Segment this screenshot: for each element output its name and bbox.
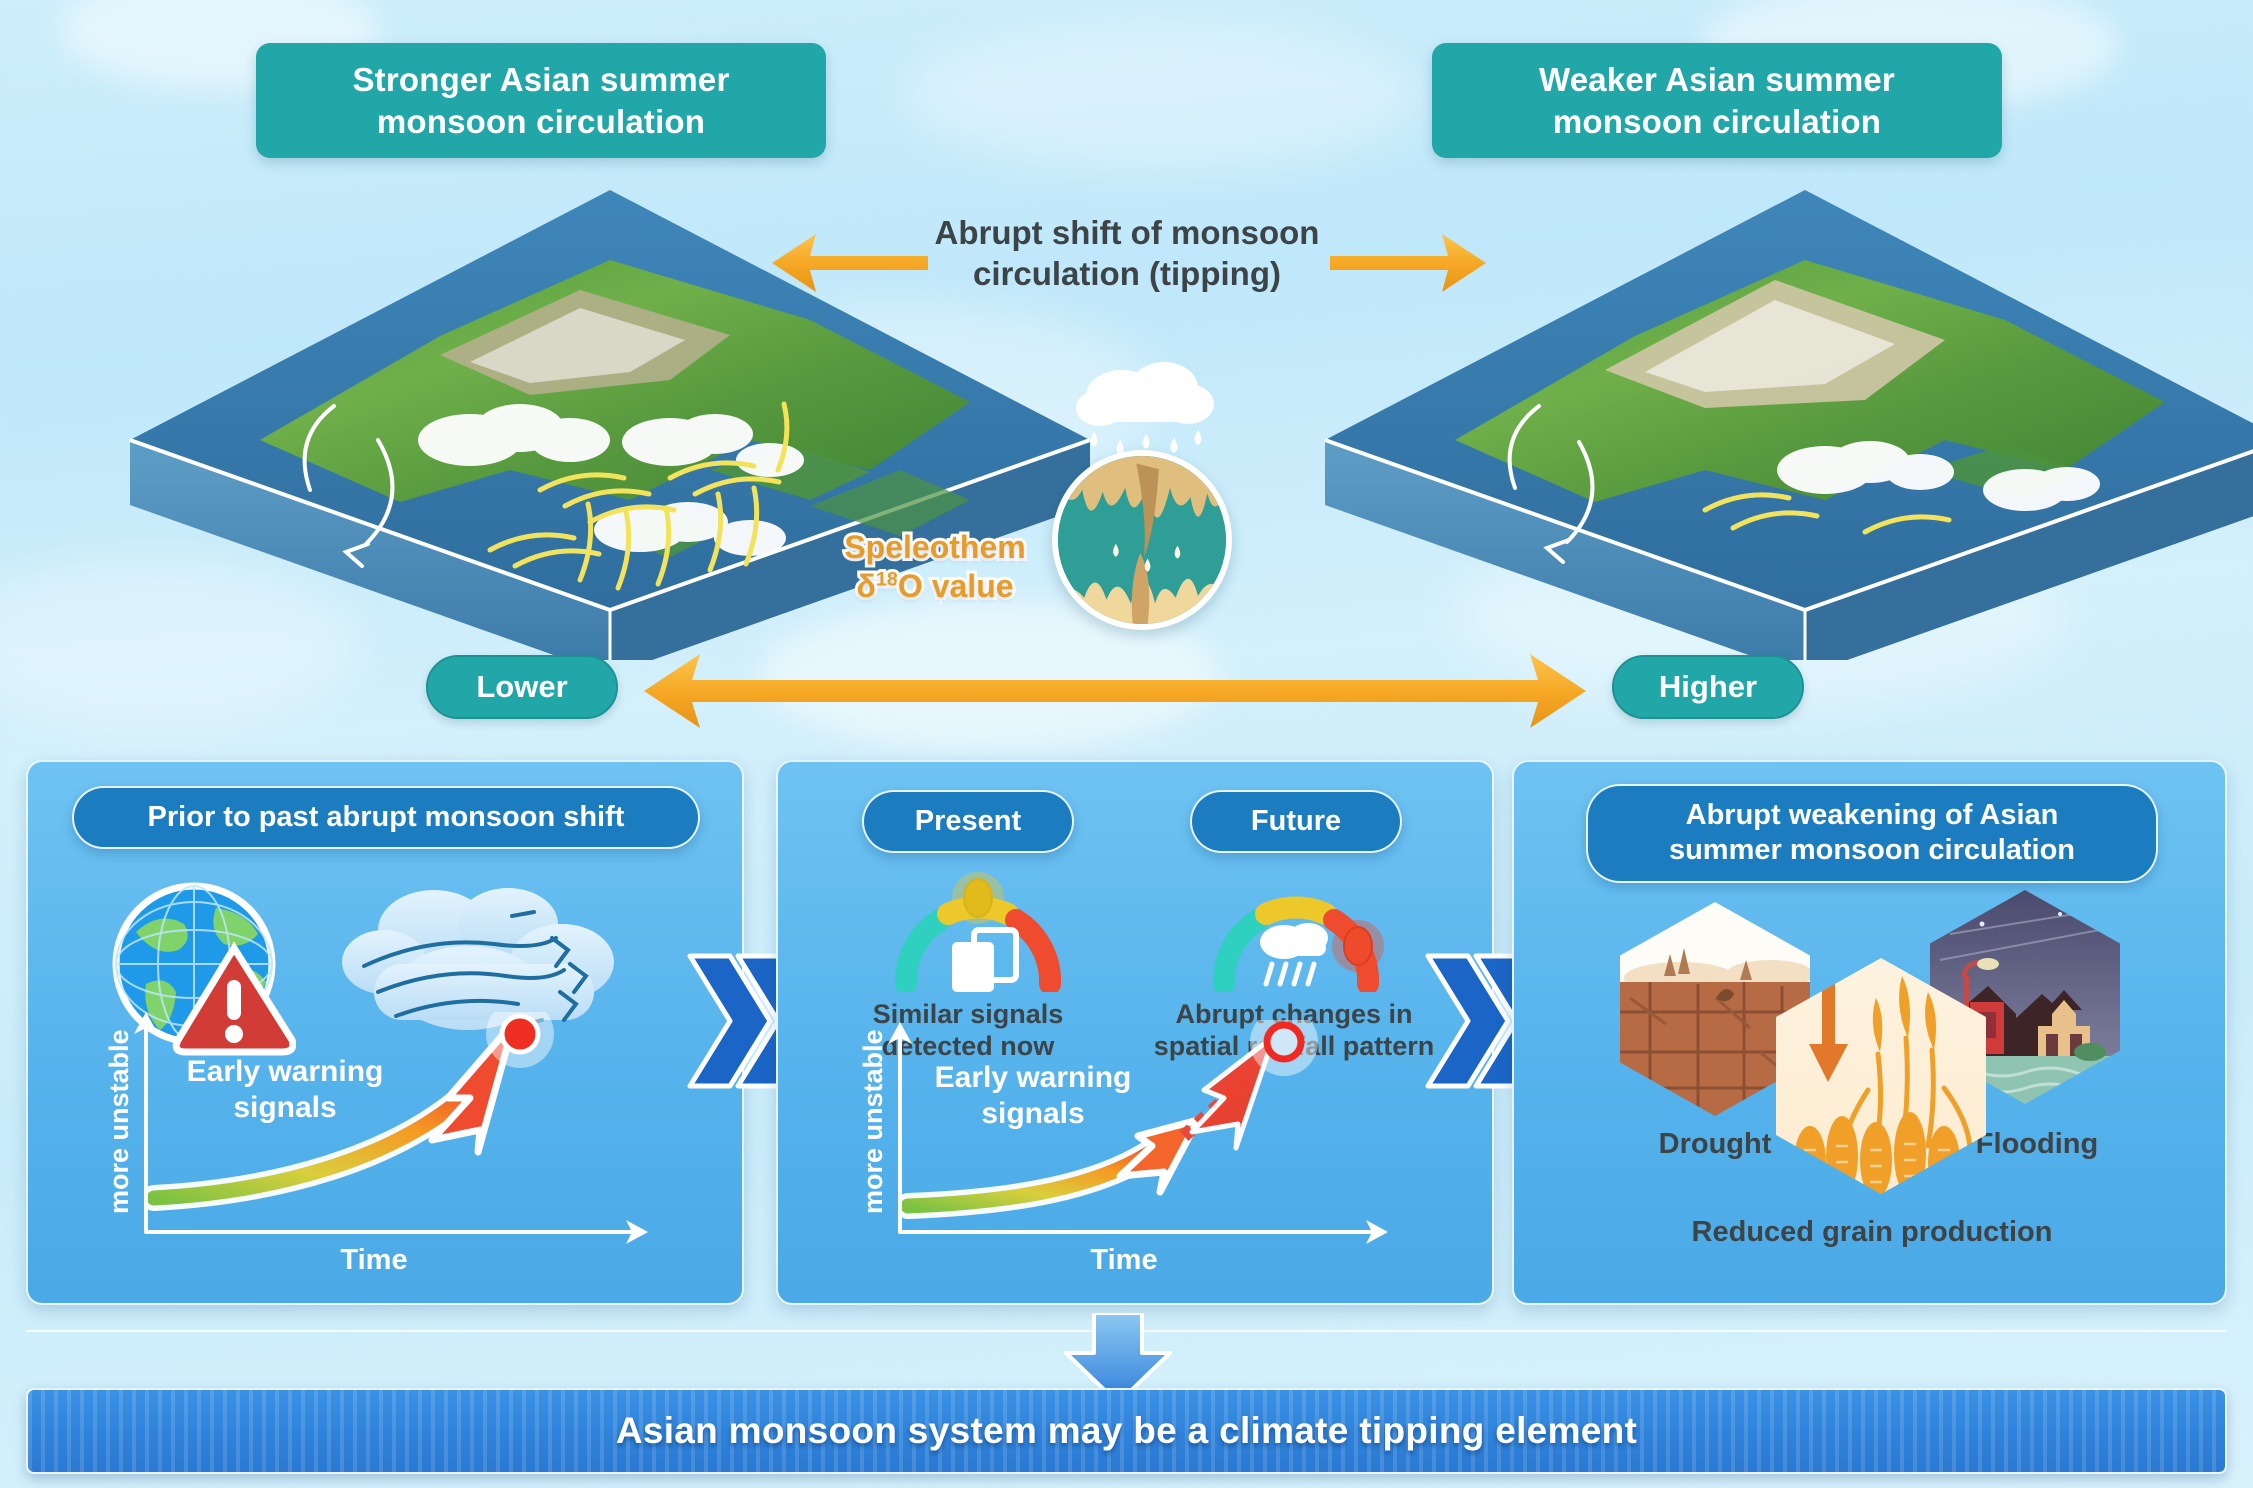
- rising-orange-arrow-icon: [902, 1020, 1372, 1240]
- panel-impacts-header: Abrupt weakening of Asian summer monsoon…: [1586, 784, 2158, 883]
- hollow-red-dot-marker: [1267, 1025, 1301, 1059]
- gauge-yellow-icon: [890, 868, 1066, 992]
- tipping-label-line1: Abrupt shift of monsoon: [935, 214, 1320, 251]
- panel-impacts: Abrupt weakening of Asian summer monsoon…: [1512, 760, 2227, 1305]
- state-label-line1: Weaker Asian summer: [1539, 61, 1895, 98]
- gauge-red-icon: [1208, 868, 1384, 992]
- proxy-lower-label: Lower: [476, 669, 567, 704]
- speleothem-proxy-label: Speleothem δ18O value: [820, 528, 1050, 606]
- x-axis-arrowhead-icon: [620, 1218, 648, 1246]
- conclusion-banner: Asian monsoon system may be a climate ti…: [26, 1388, 2227, 1474]
- panel-prior-to-shift: Prior to past abrupt monsoon shift: [26, 760, 744, 1305]
- panel-impacts-header-line1: Abrupt weakening of Asian: [1686, 799, 2059, 831]
- state-label-line2: monsoon circulation: [377, 103, 705, 140]
- proxy-value-higher-badge: Higher: [1612, 655, 1804, 719]
- proxy-value-lower-badge: Lower: [426, 655, 618, 719]
- chart-y-label: more unstable: [858, 1029, 889, 1214]
- impact-label-grain: Reduced grain production: [1652, 1216, 2092, 1249]
- panel-prior-header: Prior to past abrupt monsoon shift: [72, 786, 700, 849]
- chart-x-label: Time: [1024, 1244, 1224, 1277]
- badge-future: Future: [1190, 790, 1402, 853]
- tipping-label-line2: circulation (tipping): [973, 255, 1281, 292]
- panel-present-future: Present Future Similar signals detected …: [776, 760, 1494, 1305]
- state-label-line2: monsoon circulation: [1553, 103, 1881, 140]
- chart-x-label: Time: [274, 1244, 474, 1277]
- proxy-higher-label: Higher: [1659, 669, 1757, 704]
- copy-signals-icon: [952, 930, 1016, 992]
- chart-y-label: more unstable: [104, 1029, 135, 1214]
- arrow-right-icon: [1328, 228, 1488, 298]
- double-headed-arrow-icon: [640, 648, 1590, 734]
- tipping-label: Abrupt shift of monsoon circulation (tip…: [917, 213, 1337, 295]
- terrain-slab-weak-monsoon: [1305, 140, 2253, 660]
- badge-present: Present: [862, 790, 1074, 853]
- arrow-left-icon: [770, 228, 930, 298]
- rain-cloud-icon: [1260, 923, 1328, 984]
- speleothem-label-line1: Speleothem: [844, 529, 1025, 565]
- speleothem-cave-icon: [1052, 450, 1232, 630]
- red-dot-marker: [502, 1016, 538, 1052]
- state-label-line1: Stronger Asian summer: [352, 61, 729, 98]
- speleothem-label-line2: δ18O value: [856, 568, 1013, 604]
- rising-orange-arrow-icon: [148, 1012, 618, 1232]
- panel-impacts-header-line2: summer monsoon circulation: [1669, 834, 2075, 866]
- conclusion-banner-text: Asian monsoon system may be a climate ti…: [616, 1410, 1637, 1452]
